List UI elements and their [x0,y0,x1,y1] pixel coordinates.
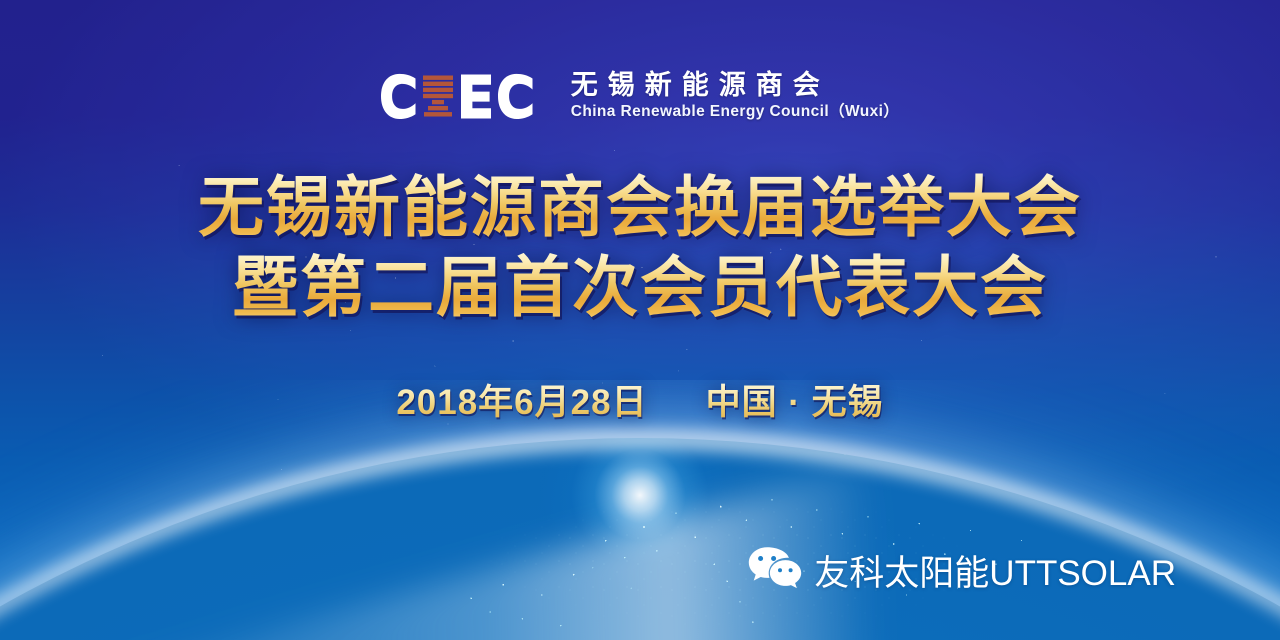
title-line-2: 暨第二届首次会员代表大会 [0,248,1280,328]
earth-globe [0,438,1280,640]
organization-name-en: China Renewable Energy Council（Wuxi） [571,103,899,122]
wechat-account-label: 友科太阳能UTTSOLAR [814,545,1176,596]
event-location: 中国 · 无锡 [706,374,884,425]
organization-name-cn: 无锡新能源商会 [571,70,899,100]
wechat-icon [748,546,802,595]
wechat-watermark: 友科太阳能UTTSOLAR [748,545,1176,596]
conference-poster: 无锡新能源商会 China Renewable Energy Council（W… [0,0,1280,640]
logo-text-block: 无锡新能源商会 China Renewable Energy Council（W… [571,66,899,122]
event-date: 2018年6月28日 [396,374,647,425]
poster-title-block: 无锡新能源商会换届选举大会 暨第二届首次会员代表大会 [0,168,1280,328]
crec-wordmark-icon [381,68,553,126]
crec-logo-lockup: 无锡新能源商会 China Renewable Energy Council（W… [0,66,1280,126]
title-line-1: 无锡新能源商会换届选举大会 [0,168,1280,248]
poster-meta-row: 2018年6月28日 中国 · 无锡 [0,374,1280,425]
